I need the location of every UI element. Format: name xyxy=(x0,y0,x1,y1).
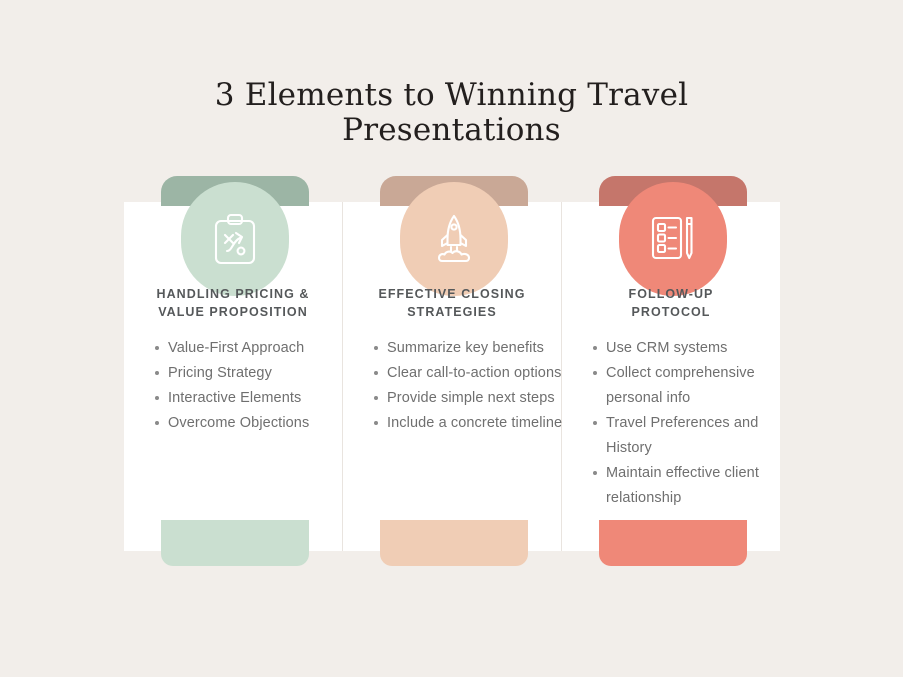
page-title-line-1: 3 Elements to Winning Travel xyxy=(215,77,688,113)
list-item: Overcome Objections xyxy=(168,411,350,436)
infographic-page: 3 Elements to Winning Travel Presentatio… xyxy=(0,0,903,677)
list-item: Pricing Strategy xyxy=(168,361,350,386)
column-handling-pricing: HANDLING PRICING & VALUE PROPOSITION Val… xyxy=(124,176,342,571)
column-bullet-list: Summarize key benefits Clear call-to-act… xyxy=(369,336,569,436)
column-heading-line-1: EFFECTIVE CLOSING xyxy=(378,287,525,301)
page-title-line-2: Presentations xyxy=(0,113,903,148)
column-bottom-tongue xyxy=(161,520,309,566)
column-follow-up-protocol: FOLLOW-UP PROTOCOL Use CRM systems Colle… xyxy=(562,176,780,571)
column-heading-line-2: STRATEGIES xyxy=(407,305,496,319)
column-bottom-tongue xyxy=(599,520,747,566)
list-item: Clear call-to-action options xyxy=(387,361,569,386)
list-item: Summarize key benefits xyxy=(387,336,569,361)
list-item: Provide simple next steps xyxy=(387,386,569,411)
list-item: Use CRM systems xyxy=(606,336,788,361)
column-heading: HANDLING PRICING & VALUE PROPOSITION xyxy=(130,286,336,322)
column-effective-closing: EFFECTIVE CLOSING STRATEGIES Summarize k… xyxy=(343,176,561,571)
column-heading-line-1: FOLLOW-UP xyxy=(629,287,714,301)
list-item: Travel Preferences and History xyxy=(606,411,788,461)
clipboard-strategy-icon xyxy=(181,204,289,274)
page-title: 3 Elements to Winning Travel Presentatio… xyxy=(0,78,903,147)
rocket-launch-icon xyxy=(400,204,508,274)
column-heading-line-2: PROTOCOL xyxy=(631,305,710,319)
columns-container: HANDLING PRICING & VALUE PROPOSITION Val… xyxy=(124,176,780,571)
column-heading-line-2: VALUE PROPOSITION xyxy=(158,305,308,319)
list-item: Include a concrete timeline xyxy=(387,411,569,436)
list-item: Value-First Approach xyxy=(168,336,350,361)
column-bullet-list: Value-First Approach Pricing Strategy In… xyxy=(150,336,350,436)
list-item: Maintain effective client relationship xyxy=(606,461,788,511)
column-heading: EFFECTIVE CLOSING STRATEGIES xyxy=(349,286,555,322)
column-bottom-tongue xyxy=(380,520,528,566)
checklist-pencil-icon xyxy=(619,204,727,274)
list-item: Interactive Elements xyxy=(168,386,350,411)
column-heading-line-1: HANDLING PRICING & xyxy=(157,287,310,301)
column-heading: FOLLOW-UP PROTOCOL xyxy=(568,286,774,322)
list-item: Collect comprehensive personal info xyxy=(606,361,788,411)
column-bullet-list: Use CRM systems Collect comprehensive pe… xyxy=(588,336,788,511)
